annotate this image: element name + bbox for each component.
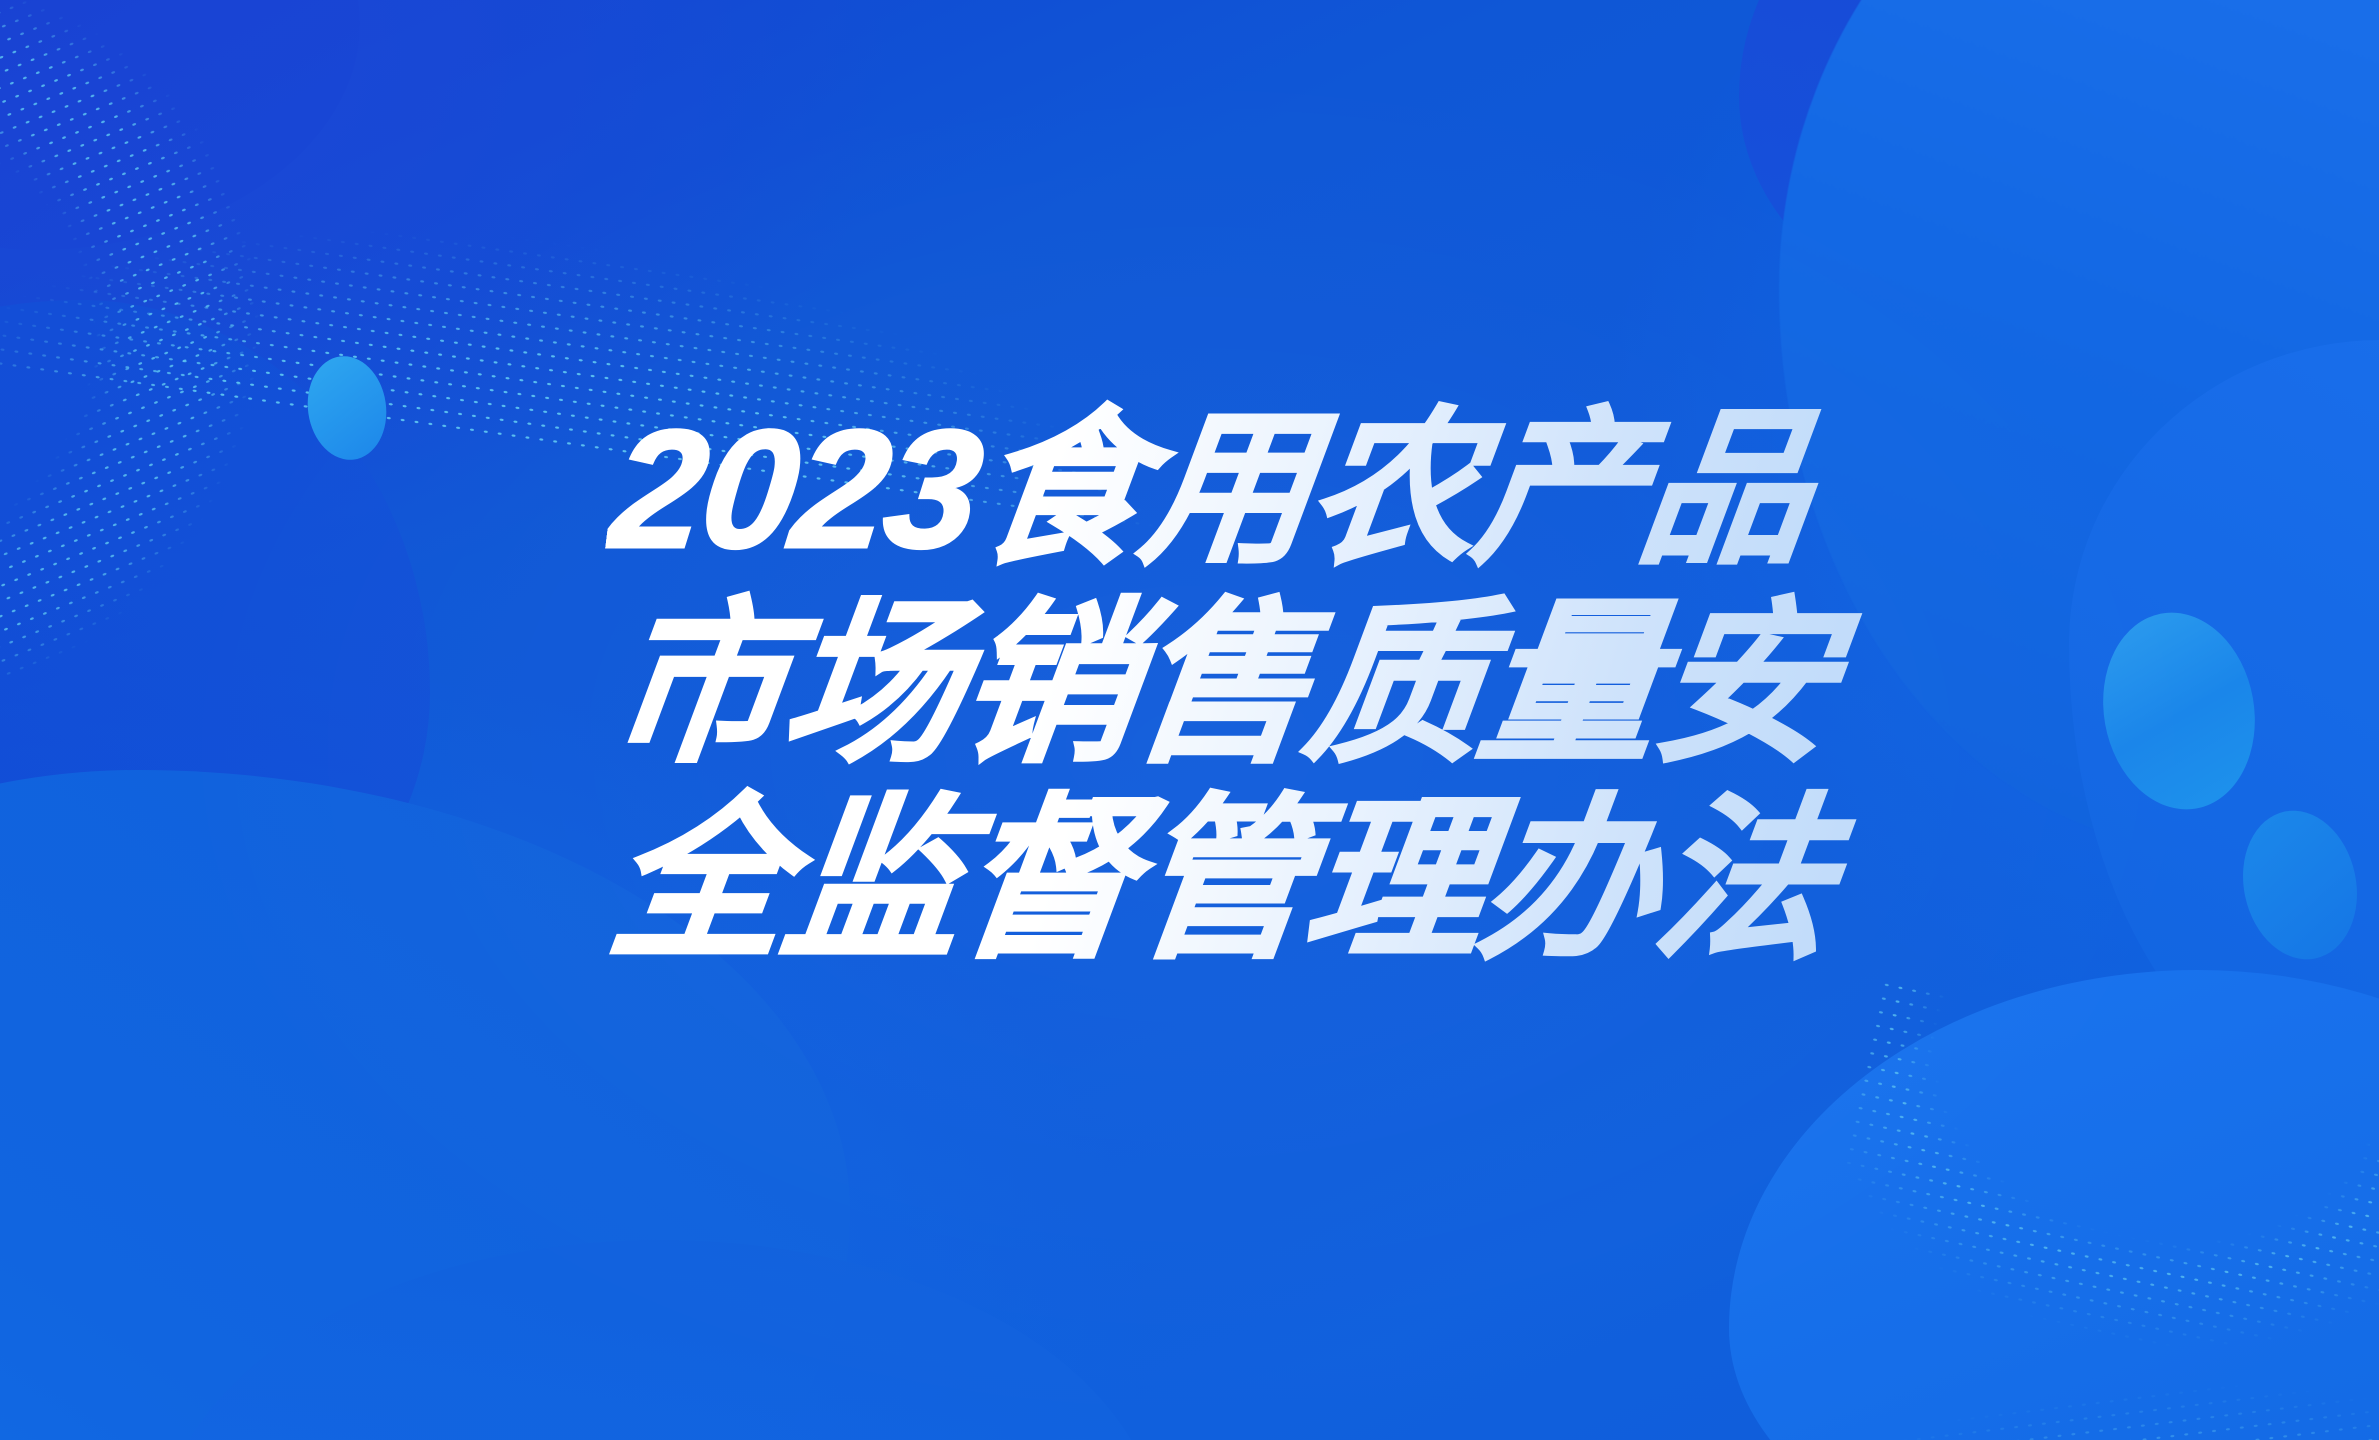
poster-title: 2023食用农产品 市场销售质量安 全监督管理办法 (600, 388, 1900, 982)
poster-banner: 2023食用农产品 市场销售质量安 全监督管理办法 (0, 0, 2379, 1440)
title-line-1: 2023食用农产品 (600, 388, 1925, 590)
title-line-3: 全监督管理办法 (600, 780, 1925, 982)
title-line-2: 市场销售质量安 (600, 584, 1925, 786)
